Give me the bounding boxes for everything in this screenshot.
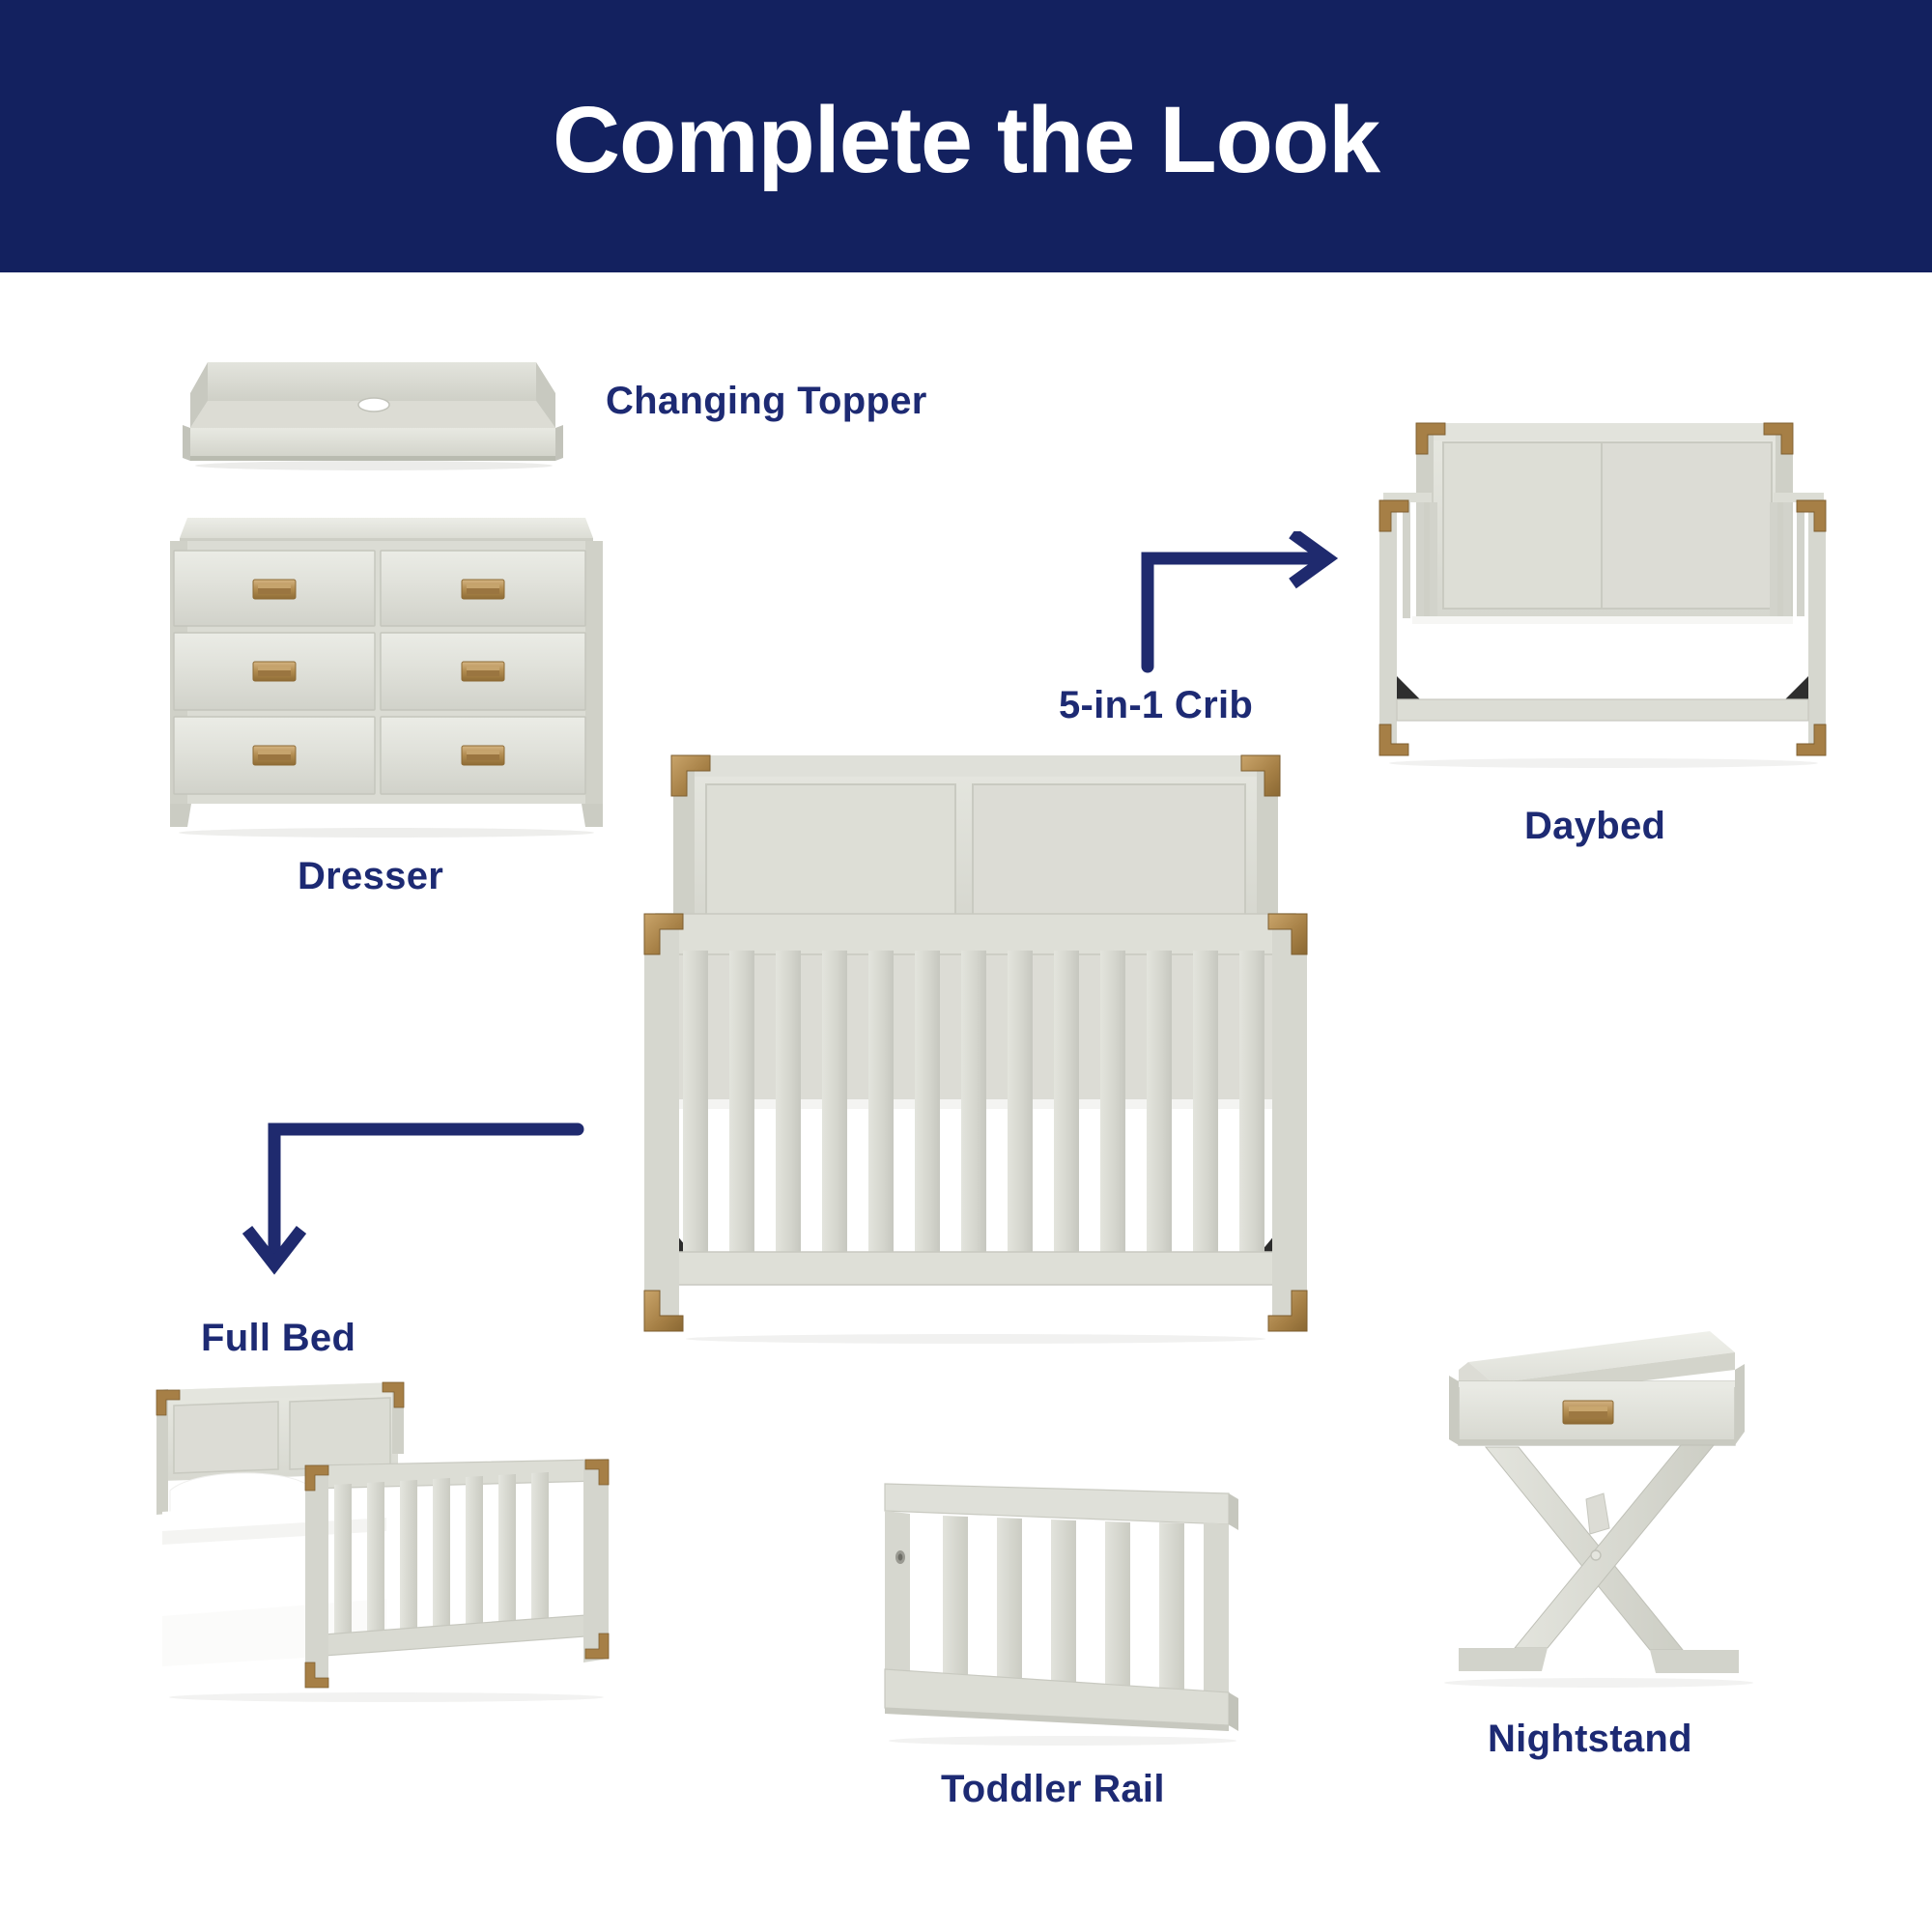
infographic-canvas: Complete the Look bbox=[0, 0, 1932, 1932]
daybed-illustration bbox=[1352, 386, 1855, 792]
changing-topper-illustration bbox=[169, 343, 575, 473]
header-banner: Complete the Look bbox=[0, 0, 1932, 272]
elbow-arrow-down-icon bbox=[193, 1116, 599, 1299]
label-daybed: Daybed bbox=[1524, 805, 1665, 848]
page-title: Complete the Look bbox=[553, 93, 1379, 186]
toddler-rail-illustration bbox=[860, 1478, 1265, 1792]
label-changing-topper: Changing Topper bbox=[606, 380, 927, 423]
elbow-arrow-right-icon bbox=[1121, 531, 1372, 676]
nightstand-illustration bbox=[1430, 1323, 1835, 1715]
convertible-crib-illustration bbox=[633, 734, 1319, 1352]
dresser-illustration bbox=[145, 502, 628, 850]
label-full-bed: Full Bed bbox=[201, 1317, 355, 1360]
label-crib: 5-in-1 Crib bbox=[1059, 684, 1253, 727]
full-bed-illustration bbox=[135, 1377, 642, 1729]
label-dresser: Dresser bbox=[298, 855, 443, 898]
label-nightstand: Nightstand bbox=[1488, 1718, 1692, 1761]
label-toddler-rail: Toddler Rail bbox=[941, 1768, 1165, 1811]
